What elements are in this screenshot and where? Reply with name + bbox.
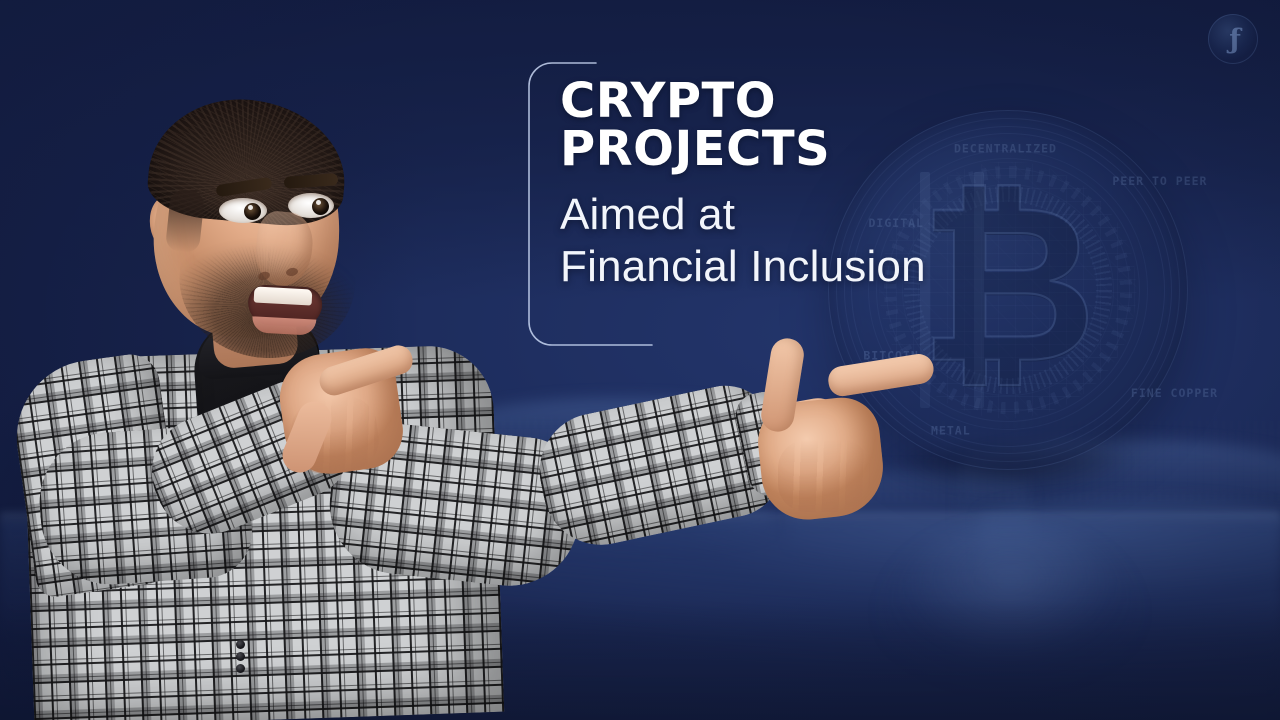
subheadline: Aimed at Financial Inclusion bbox=[560, 189, 1080, 293]
subheadline-line-1: Aimed at bbox=[560, 190, 735, 239]
presenter-sleeve-buttons bbox=[236, 640, 246, 684]
headline-line-2: PROJECTS bbox=[560, 126, 1080, 174]
sleeve-button-3 bbox=[236, 664, 245, 673]
banner-canvas: DIGITAL DECENTRALIZED PEER TO PEER FINE … bbox=[0, 0, 1280, 720]
presenter-eye-highlight-left bbox=[248, 205, 253, 210]
presenter-teeth bbox=[254, 286, 313, 305]
headline: CRYPTO PROJECTS bbox=[560, 78, 1080, 173]
presenter-eye-highlight-right bbox=[316, 200, 321, 205]
sleeve-button-2 bbox=[236, 652, 245, 661]
headline-block: CRYPTO PROJECTS Aimed at Financial Inclu… bbox=[560, 78, 1080, 293]
brand-logo-watermark[interactable]: ƒ bbox=[1208, 14, 1258, 64]
brand-logo-glyph: ƒ bbox=[1229, 26, 1237, 53]
subheadline-line-2: Financial Inclusion bbox=[560, 241, 1080, 293]
sleeve-button-1 bbox=[236, 640, 245, 649]
presenter-right-knuckles bbox=[778, 440, 870, 512]
